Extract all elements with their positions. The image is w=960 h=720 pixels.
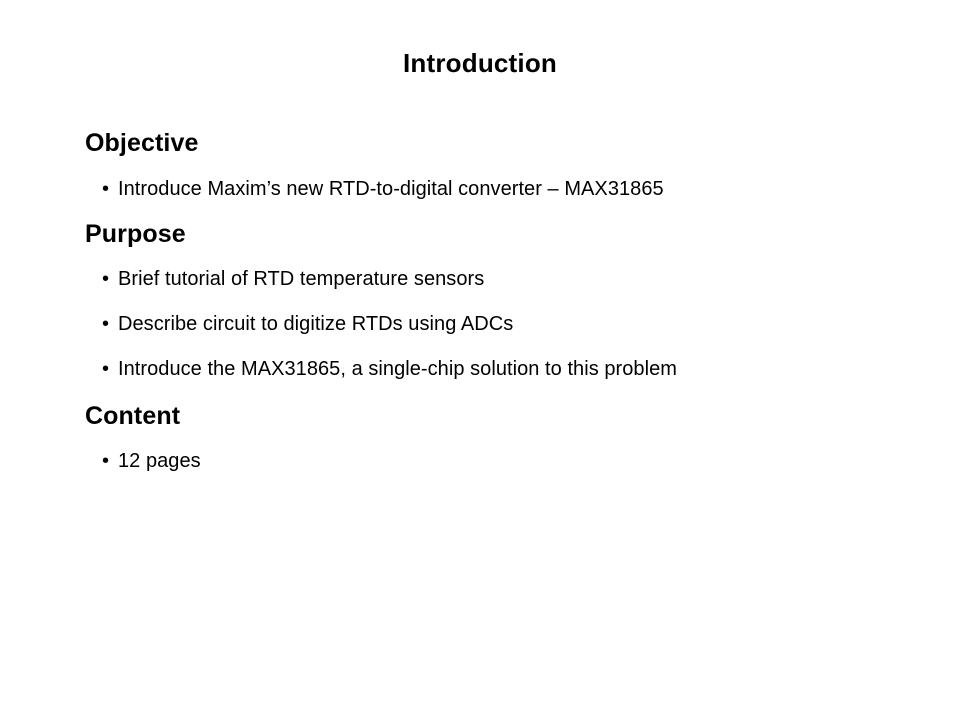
bullet-list-purpose: • Brief tutorial of RTD temperature sens… (85, 266, 905, 382)
list-item: • 12 pages (85, 448, 905, 474)
bullet-list-objective: • Introduce Maxim’s new RTD-to-digital c… (85, 176, 905, 202)
bullet-list-content: • 12 pages (85, 448, 905, 474)
bullet-text: Brief tutorial of RTD temperature sensor… (118, 268, 484, 290)
bullet-text: Introduce the MAX31865, a single-chip so… (118, 358, 677, 380)
slide-canvas: Introduction Objective • Introduce Maxim… (0, 0, 960, 720)
bullet-point-icon: • (102, 176, 109, 202)
bullet-text: Describe circuit to digitize RTDs using … (118, 313, 513, 335)
list-item: • Introduce the MAX31865, a single-chip … (85, 356, 905, 382)
slide-title: Introduction (0, 48, 960, 78)
section-content: Content • 12 pages (85, 399, 905, 474)
bullet-point-icon: • (102, 266, 109, 292)
bullet-point-icon: • (102, 311, 109, 337)
section-heading-content: Content (85, 399, 905, 433)
bullet-text: Introduce Maxim’s new RTD-to-digital con… (118, 178, 664, 200)
list-item: • Brief tutorial of RTD temperature sens… (85, 266, 905, 292)
slide-body: Objective • Introduce Maxim’s new RTD-to… (85, 126, 905, 474)
section-purpose: Purpose • Brief tutorial of RTD temperat… (85, 217, 905, 382)
bullet-point-icon: • (102, 448, 109, 474)
list-item: • Introduce Maxim’s new RTD-to-digital c… (85, 176, 905, 202)
section-heading-objective: Objective (85, 126, 905, 160)
list-item: • Describe circuit to digitize RTDs usin… (85, 311, 905, 337)
bullet-text: 12 pages (118, 450, 201, 472)
section-heading-purpose: Purpose (85, 217, 905, 251)
section-objective: Objective • Introduce Maxim’s new RTD-to… (85, 126, 905, 202)
bullet-point-icon: • (102, 356, 109, 382)
